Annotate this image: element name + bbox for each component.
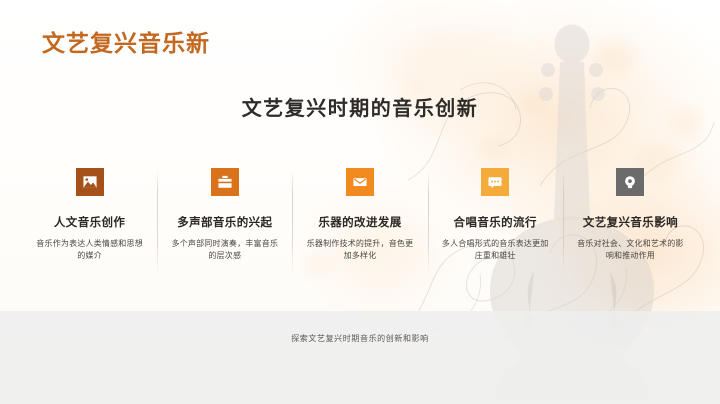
- feature-card[interactable]: 合唱音乐的流行 多人合唱形式的音乐表达更加庄重和雄壮: [428, 168, 563, 263]
- record-lens-icon-glyph: [623, 175, 637, 189]
- feature-card[interactable]: 文艺复兴音乐影响 音乐对社会、文化和艺术的影响和推动作用: [563, 168, 698, 263]
- envelope-icon-glyph: [353, 175, 367, 189]
- feature-card-description: 音乐作为表达人类情感和思想的媒介: [28, 238, 151, 263]
- chat-bubble-icon-glyph: [488, 175, 502, 189]
- feature-card-title: 乐器的改进发展: [298, 214, 421, 230]
- feature-card-title: 合唱音乐的流行: [434, 214, 557, 230]
- envelope-icon: [346, 168, 374, 196]
- briefcase-icon: [211, 168, 239, 196]
- feature-card-title: 多声部音乐的兴起: [163, 214, 286, 230]
- feature-card[interactable]: 乐器的改进发展 乐器制作技术的提升，音色更加多样化: [292, 168, 427, 263]
- decor-blob: [596, 40, 636, 74]
- decor-blob: [612, 272, 656, 310]
- feature-card[interactable]: 人文音乐创作 音乐作为表达人类情感和思想的媒介: [22, 168, 157, 263]
- footer-caption: 探索文艺复兴时期音乐的创新和影响: [0, 333, 720, 344]
- feature-card-row: 人文音乐创作 音乐作为表达人类情感和思想的媒介 多声部音乐的兴起 多个声部同时演…: [22, 168, 698, 263]
- chat-bubble-icon: [481, 168, 509, 196]
- slide-canvas: 文艺复兴音乐新 文艺复兴时期的音乐创新 人文音乐创作 音乐作为表达人类情感和思想…: [0, 0, 720, 404]
- image-icon: [76, 168, 104, 196]
- feature-card-title: 人文音乐创作: [28, 214, 151, 230]
- feature-card[interactable]: 多声部音乐的兴起 多个声部同时演奏，丰富音乐的层次感: [157, 168, 292, 263]
- record-lens-icon: [616, 168, 644, 196]
- feature-card-description: 多个声部同时演奏，丰富音乐的层次感: [163, 238, 286, 263]
- image-icon-glyph: [83, 175, 97, 189]
- feature-card-title: 文艺复兴音乐影响: [569, 214, 692, 230]
- feature-card-description: 音乐对社会、文化和艺术的影响和推动作用: [569, 238, 692, 263]
- footer-band: [0, 311, 720, 404]
- page-title: 文艺复兴时期的音乐创新: [0, 92, 720, 121]
- decor-blob: [478, 136, 508, 162]
- feature-card-description: 多人合唱形式的音乐表达更加庄重和雄壮: [434, 238, 557, 263]
- feature-card-description: 乐器制作技术的提升，音色更加多样化: [298, 238, 421, 263]
- briefcase-icon-glyph: [218, 175, 232, 189]
- header-title: 文艺复兴音乐新: [42, 24, 210, 58]
